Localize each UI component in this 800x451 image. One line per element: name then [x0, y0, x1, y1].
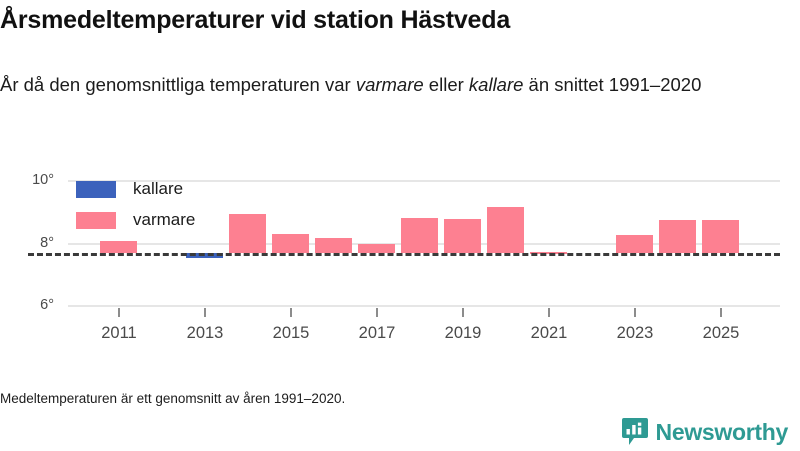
newsworthy-logo[interactable]: Newsworthy	[622, 417, 788, 447]
x-tick-2025	[720, 308, 722, 317]
bar-chart-speech-bubble-icon	[622, 418, 648, 446]
x-axis-label-2013: 2013	[165, 324, 245, 343]
bar-2020[interactable]	[487, 207, 524, 252]
x-tick-2011	[118, 308, 120, 317]
x-tick-2023	[634, 308, 636, 317]
average-reference-line	[28, 253, 780, 256]
x-axis-label-2025: 2025	[681, 324, 761, 343]
subtitle-text-3: än snittet 1991–2020	[523, 74, 701, 95]
x-axis-label-2023: 2023	[595, 324, 675, 343]
legend-item-kallare[interactable]: kallare	[76, 178, 195, 200]
x-axis-label-2017: 2017	[337, 324, 417, 343]
legend-item-varmare[interactable]: varmare	[76, 209, 195, 231]
temperature-bar-chart: 6°8°10° kallare varmare 2011201320152017…	[0, 160, 800, 370]
bar-2014[interactable]	[229, 214, 266, 253]
subtitle-text-1: År då den genomsnittliga temperaturen va…	[0, 74, 356, 95]
x-axis-label-2015: 2015	[251, 324, 331, 343]
bar-2023[interactable]	[616, 235, 653, 253]
bar-2019[interactable]	[444, 219, 481, 252]
page-subtitle: År då den genomsnittliga temperaturen va…	[0, 72, 785, 98]
x-axis-label-2011: 2011	[79, 324, 159, 343]
chart-footnote: Medeltemperaturen är ett genomsnitt av å…	[0, 391, 345, 406]
bar-2024[interactable]	[659, 220, 696, 253]
bar-2011[interactable]	[100, 241, 137, 253]
bar-2016[interactable]	[315, 238, 352, 253]
bar-2025[interactable]	[702, 220, 739, 253]
chart-page: Årsmedeltemperaturer vid station Hästved…	[0, 0, 800, 450]
x-axis: 20112013201520172019202120232025	[0, 308, 800, 368]
x-tick-2015	[290, 308, 292, 317]
gridline-6	[68, 305, 780, 307]
y-axis-label-8: 8°	[8, 235, 54, 251]
subtitle-text-2: eller	[424, 74, 469, 95]
page-title: Årsmedeltemperaturer vid station Hästved…	[0, 6, 790, 35]
subtitle-emphasis-varmare: varmare	[356, 74, 424, 95]
legend-swatch-cold-icon	[76, 181, 116, 198]
x-axis-label-2021: 2021	[509, 324, 589, 343]
subtitle-emphasis-kallare: kallare	[469, 74, 524, 95]
x-tick-2021	[548, 308, 550, 317]
chart-legend: kallare varmare	[76, 178, 195, 240]
x-tick-2013	[204, 308, 206, 317]
y-axis-label-10: 10°	[8, 172, 54, 188]
x-axis-label-2019: 2019	[423, 324, 503, 343]
bar-2018[interactable]	[401, 218, 438, 252]
x-tick-2019	[462, 308, 464, 317]
x-tick-2017	[376, 308, 378, 317]
legend-label-kallare: kallare	[133, 179, 183, 199]
legend-swatch-warm-icon	[76, 212, 116, 229]
newsworthy-wordmark: Newsworthy	[656, 419, 788, 446]
legend-label-varmare: varmare	[133, 210, 195, 230]
bar-2017[interactable]	[358, 244, 395, 252]
bar-2015[interactable]	[272, 234, 309, 253]
